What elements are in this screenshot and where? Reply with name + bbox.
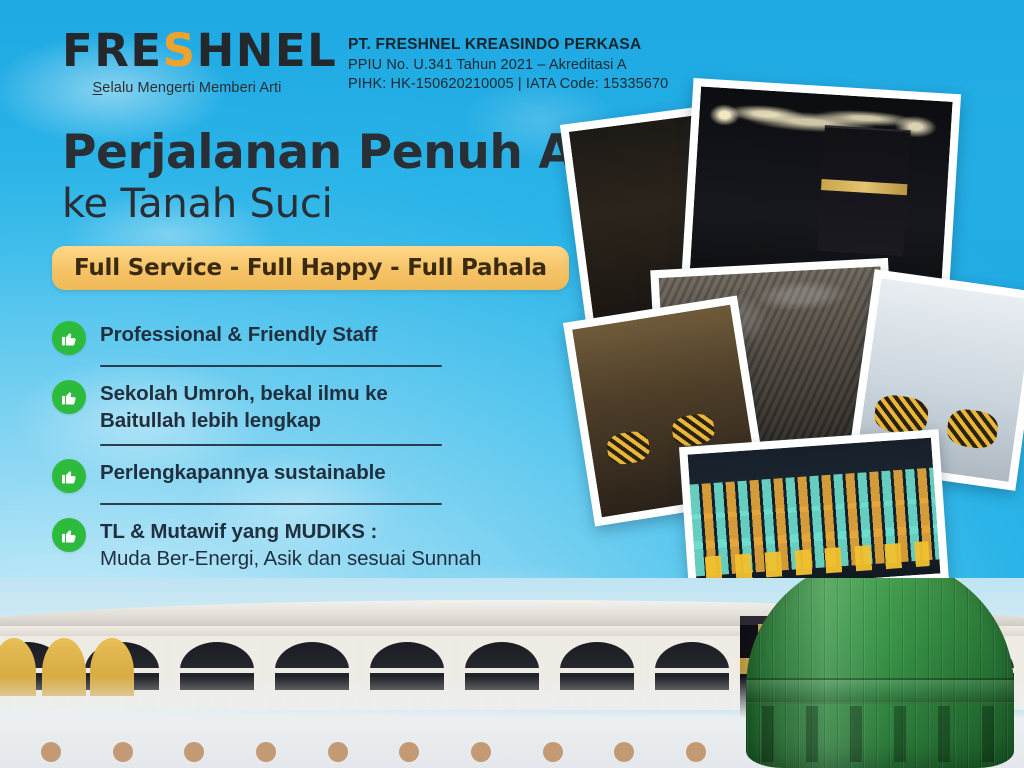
thumbs-up-icon [52, 321, 86, 355]
poster-canvas: FRESHNEL Selalu Mengerti Memberi Arti PT… [0, 0, 1024, 768]
brand-logo: FRESHNEL Selalu Mengerti Memberi Arti [62, 28, 312, 96]
list-item: TL & Mutawif yang MUDIKS :Muda Ber-Energ… [52, 515, 632, 572]
list-item-label: Perlengkapannya sustainable [100, 456, 386, 486]
list-item: Professional & Friendly Staff [52, 318, 632, 355]
headline-line-2: ke Tanah Suci [62, 182, 635, 227]
list-item-line-1-c: : [365, 520, 377, 543]
green-dome-nabawi [720, 578, 1024, 768]
logo-wordmark: FRESHNEL [62, 28, 312, 73]
divider [100, 365, 442, 367]
logo-tagline-rest: elalu Mengerti Memberi Arti [102, 80, 281, 96]
feature-list: Professional & Friendly Staff Sekolah Um… [52, 318, 632, 572]
headline-line-1: Perjalanan Penuh Arti [62, 128, 635, 178]
status-badge: Full Service - Full Happy - Full Pahala [52, 246, 569, 290]
thumbs-up-icon [52, 380, 86, 414]
list-item-label: Professional & Friendly Staff [100, 318, 377, 348]
list-item-line-2: Muda Ber-Energi, Asik dan sesuai Sunnah [100, 547, 481, 570]
logo-part-1: FRE [62, 24, 163, 77]
list-item: Perlengkapannya sustainable [52, 456, 632, 493]
logo-tagline: Selalu Mengerti Memberi Arti [62, 80, 312, 96]
list-item-line-2: Baitullah lebih lengkap [100, 409, 321, 432]
divider [100, 503, 442, 505]
company-name: PT. FRESHNEL KREASINDO PERKASA [348, 36, 668, 54]
list-item: Sekolah Umroh, bekal ilmu keBaitullah le… [52, 377, 632, 434]
thumbs-up-icon [52, 518, 86, 552]
list-item-label: Sekolah Umroh, bekal ilmu keBaitullah le… [100, 377, 388, 434]
thumbs-up-icon [52, 459, 86, 493]
company-license: PPIU No. U.341 Tahun 2021 – Akreditasi A [348, 57, 668, 73]
photo-collage [560, 86, 1024, 606]
list-item-emphasis: MUDIKS [285, 520, 365, 543]
badge-label: Full Service - Full Happy - Full Pahala [74, 255, 547, 281]
bottom-landmark-scene [0, 578, 1024, 768]
page-title: Perjalanan Penuh Arti ke Tanah Suci [62, 128, 635, 227]
list-item-line-1: Sekolah Umroh, bekal ilmu ke [100, 382, 388, 405]
logo-tagline-initial: S [93, 80, 103, 96]
divider [100, 444, 442, 446]
logo-highlight-letter: S [163, 24, 197, 77]
logo-part-2: HNEL [197, 24, 338, 77]
photo-big-group [679, 429, 949, 599]
list-item-line-1-a: TL & Mutawif yang [100, 520, 285, 543]
list-item-label: TL & Mutawif yang MUDIKS :Muda Ber-Energ… [100, 515, 481, 572]
company-info: PT. FRESHNEL KREASINDO PERKASA PPIU No. … [348, 36, 668, 92]
